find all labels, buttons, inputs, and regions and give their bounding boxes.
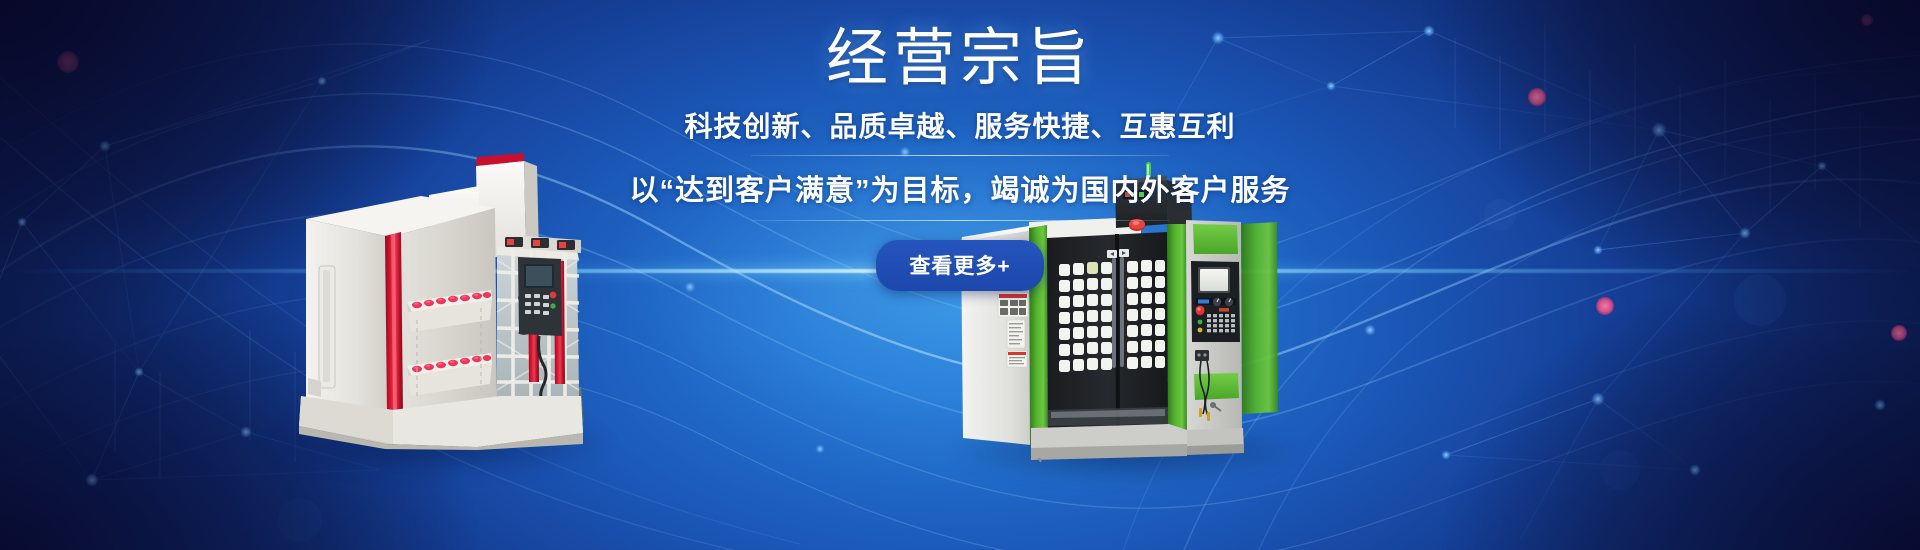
banner-tagline: 以“达到客户满意”为目标，竭诚为国内外客户服务	[0, 167, 1920, 209]
banner-content: 经营宗旨 科技创新、品质卓越、服务快捷、互惠互利 以“达到客户满意”为目标，竭诚…	[0, 0, 1920, 291]
page-title: 经营宗旨	[0, 26, 1920, 93]
divider-top	[751, 155, 1169, 156]
banner-subtitle: 科技创新、品质卓越、服务快捷、互惠互利	[0, 105, 1920, 145]
view-more-button[interactable]: 查看更多+	[876, 240, 1043, 291]
promo-banner: 经营宗旨 科技创新、品质卓越、服务快捷、互惠互利 以“达到客户满意”为目标，竭诚…	[0, 0, 1920, 550]
divider-bottom	[751, 220, 1169, 221]
